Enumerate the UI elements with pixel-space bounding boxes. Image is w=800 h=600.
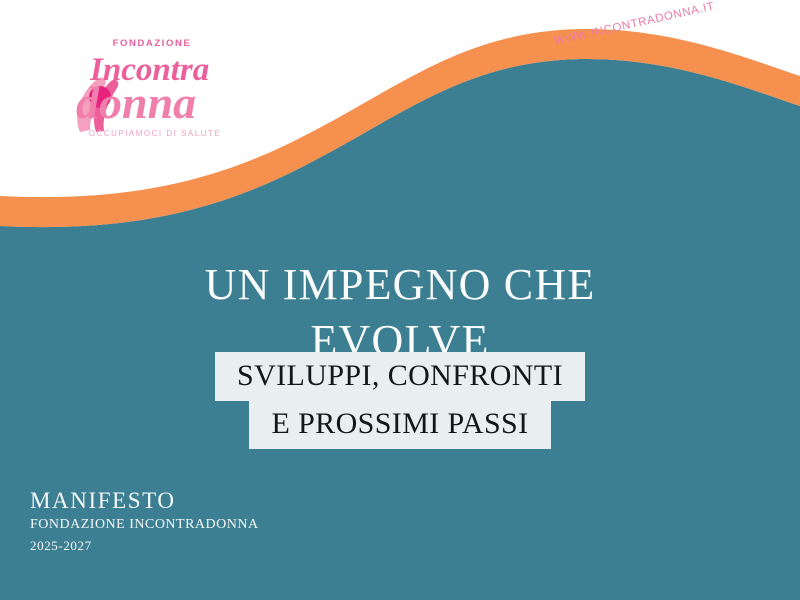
subtitle-line-2-text: E PROSSIMI PASSI [249,400,550,449]
subtitle-line-1: SVILUPPI, CONFRONTI [0,352,800,401]
footer-block: MANIFESTO FONDAZIONE INCONTRADONNA 2025-… [30,488,259,556]
subtitle: SVILUPPI, CONFRONTI E PROSSIMI PASSI [0,352,800,449]
page-title-line-1: UN IMPEGNO CHE [0,257,800,313]
footer-heading: MANIFESTO [30,488,259,514]
logo-donna-text: donna [76,77,196,128]
logo-tagline-text: OCCUPIAMOCI DI SALUTE [89,129,221,138]
slide-canvas: FONDAZIONE Incontra donna OCCUPIAMOCI DI… [0,0,800,600]
footer-organization: FONDAZIONE INCONTRADONNA [30,515,259,535]
logo-fondazione-text: FONDAZIONE [113,38,192,49]
subtitle-line-2: E PROSSIMI PASSI [0,400,800,449]
logo: FONDAZIONE Incontra donna OCCUPIAMOCI DI… [52,34,252,142]
footer-years: 2025-2027 [30,536,259,556]
subtitle-line-1-text: SVILUPPI, CONFRONTI [215,352,585,401]
